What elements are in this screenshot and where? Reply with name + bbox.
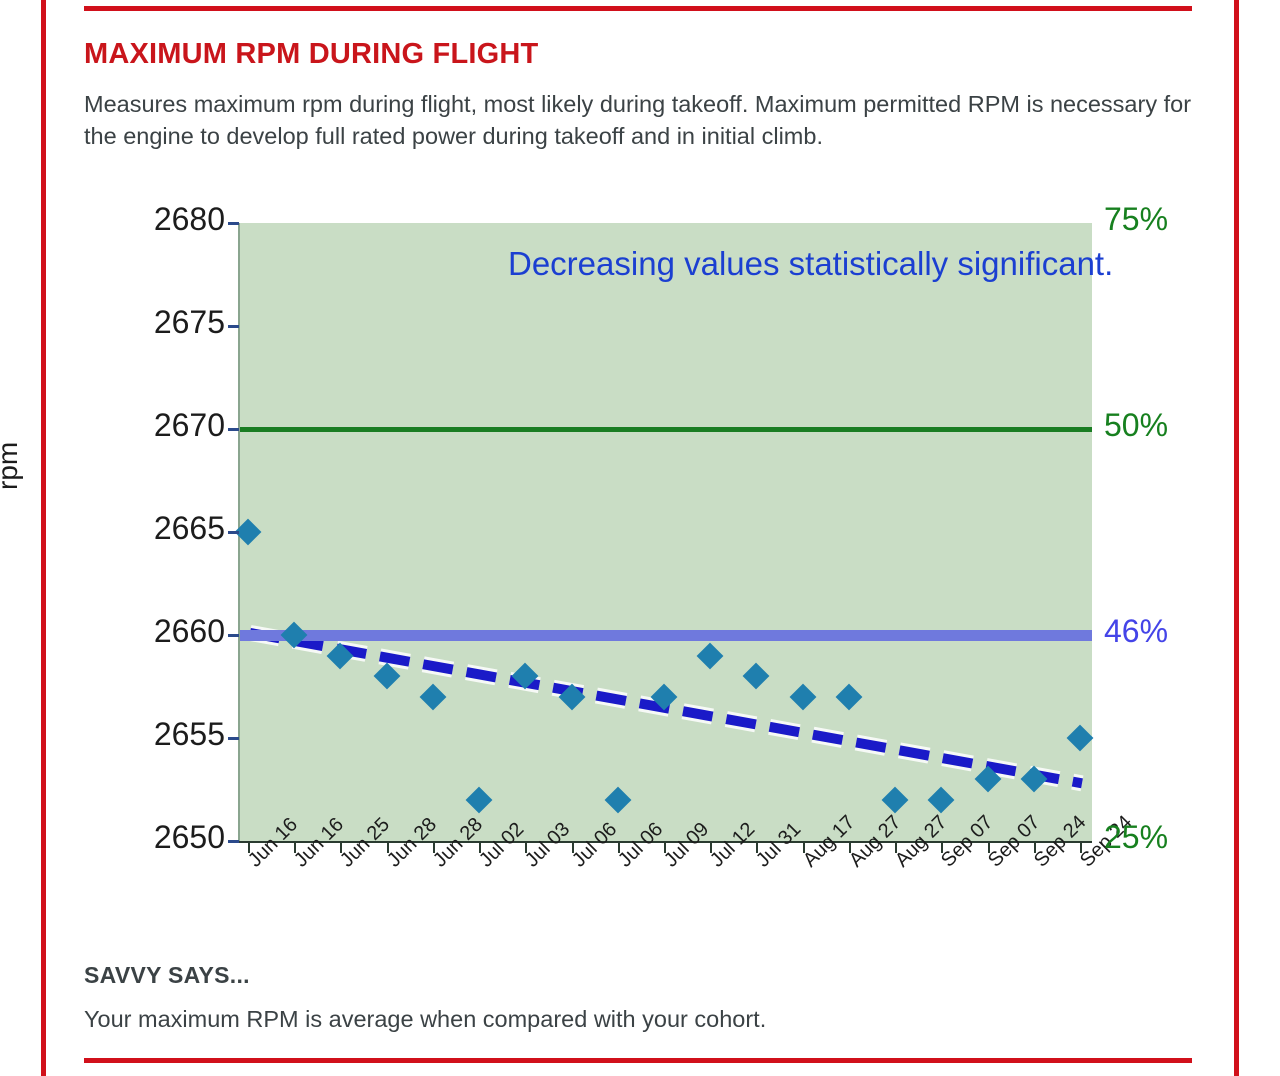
- savvy-says-heading: SAVVY SAYS...: [84, 962, 250, 989]
- cohort-25th-percentile-label: 25%: [1104, 819, 1168, 856]
- report-card: MAXIMUM RPM DURING FLIGHT Measures maxim…: [0, 0, 1280, 1076]
- y-tick-label: 2655: [75, 716, 225, 753]
- y-tick-label: 2665: [75, 510, 225, 547]
- cohort-75th-percentile-label: 75%: [1104, 201, 1168, 238]
- y-axis-title: rpm: [0, 442, 24, 490]
- savvy-says-body: Your maximum RPM is average when compare…: [84, 1006, 766, 1033]
- y-tick-mark: [228, 737, 239, 740]
- y-tick-mark: [228, 840, 239, 843]
- y-tick-mark: [228, 531, 239, 534]
- your-percentile: [240, 630, 1092, 641]
- rpm-trend-chart: rpm 2650265526602665267026752680 Decreas…: [0, 190, 1280, 950]
- y-tick-mark: [228, 634, 239, 637]
- description-text: Measures maximum rpm during flight, most…: [84, 88, 1196, 153]
- your-percentile-label: 46%: [1104, 613, 1168, 650]
- top-red-rule: [84, 6, 1192, 11]
- y-tick-label: 2660: [75, 613, 225, 650]
- y-tick-label: 2670: [75, 407, 225, 444]
- trendline: [240, 223, 1092, 841]
- bottom-red-rule: [84, 1058, 1192, 1063]
- cohort-50th-percentile: [240, 427, 1092, 432]
- page-title: MAXIMUM RPM DURING FLIGHT: [84, 38, 538, 71]
- y-tick-label: 2675: [75, 304, 225, 341]
- y-axis-labels: 2650265526602665267026752680: [70, 190, 225, 890]
- y-tick-mark: [228, 222, 239, 225]
- cohort-50th-percentile-label: 50%: [1104, 407, 1168, 444]
- y-tick-label: 2650: [75, 819, 225, 856]
- plot-area: Decreasing values statistically signific…: [238, 223, 1092, 841]
- y-tick-mark: [228, 428, 239, 431]
- y-tick-label: 2680: [75, 201, 225, 238]
- y-tick-mark: [228, 325, 239, 328]
